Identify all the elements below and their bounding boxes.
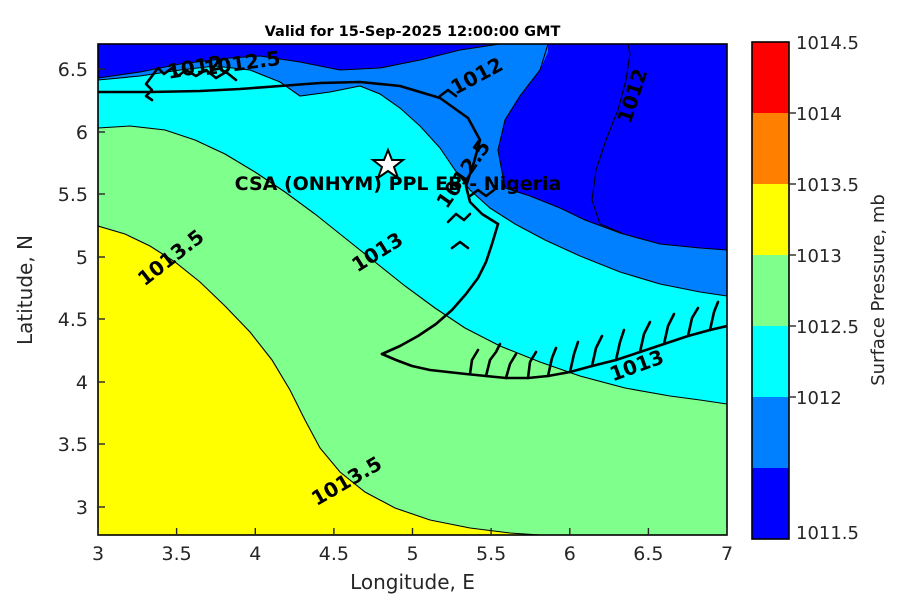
x-tick-label: 6.5: [633, 543, 663, 565]
colorbar-tick-label: 1013: [796, 246, 842, 267]
y-tick-label: 5: [76, 247, 88, 269]
x-tick-label: 4.5: [319, 543, 349, 565]
colorbar-tick-label: 1011.5: [796, 523, 859, 544]
colorbar-band-1012.5: [752, 326, 789, 397]
colorbar-tick-label: 1014.5: [796, 33, 859, 54]
colorbar-band-1014: [752, 113, 789, 184]
x-tick-label: 6: [564, 543, 576, 565]
pressure-contour-figure: Valid for 15-Sep-2025 12:00:00 GMT: [0, 0, 900, 600]
y-tick-label: 5.5: [58, 184, 88, 206]
colorbar-band-1013.5: [752, 184, 789, 255]
x-tick-label: 5: [406, 543, 418, 565]
colorbar-tick-label: 1012: [796, 388, 842, 409]
y-tick-label: 6.5: [58, 59, 88, 81]
colorbar-band-1012: [752, 397, 789, 468]
chart-title: Valid for 15-Sep-2025 12:00:00 GMT: [265, 24, 561, 40]
y-tick-label: 4: [76, 372, 88, 394]
x-tick-label: 7: [721, 543, 733, 565]
colorbar-tick-label: 1014: [796, 104, 842, 125]
colorbar-band-1013: [752, 255, 789, 326]
x-axis-label: Longitude, E: [350, 570, 475, 594]
x-tick-label: 3: [92, 543, 104, 565]
x-tick-label: 4: [249, 543, 261, 565]
y-tick-label: 3: [76, 497, 88, 519]
y-tick-label: 6: [76, 122, 88, 144]
y-axis-label: Latitude, N: [13, 235, 37, 345]
x-tick-label: 3.5: [161, 543, 191, 565]
colorbar-tick-label: 1013.5: [796, 175, 859, 196]
y-tick-label: 3.5: [58, 434, 88, 456]
colorbar-tick-label: 1012.5: [796, 317, 859, 338]
colorbar-band-1011.5: [752, 468, 789, 539]
x-tick-label: 5.5: [476, 543, 506, 565]
colorbar-axis-label: Surface Pressure, mb: [868, 194, 889, 386]
colorbar-band-1014.5: [752, 42, 789, 113]
site-annotation-label: CSA (ONHYM) PPL EB - Nigeria: [235, 173, 562, 195]
y-tick-label: 4.5: [58, 309, 88, 331]
